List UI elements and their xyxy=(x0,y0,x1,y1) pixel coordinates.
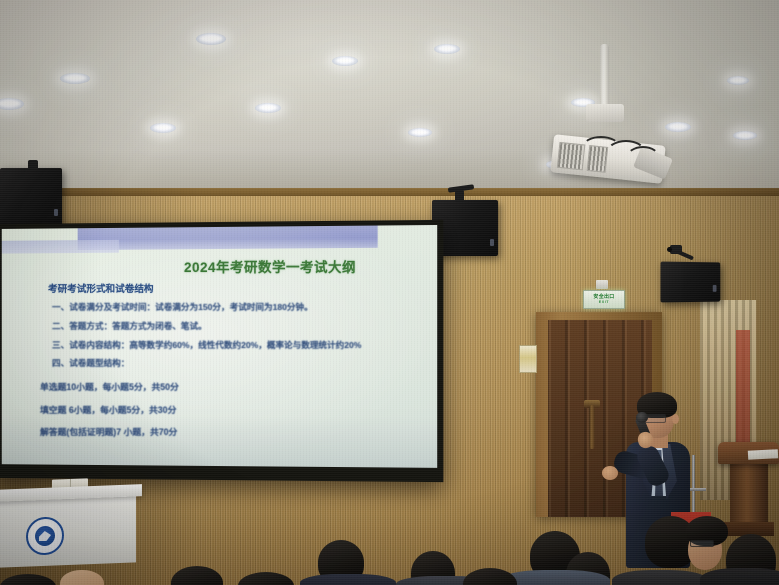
audience-head xyxy=(171,566,223,585)
audience-shoulders xyxy=(700,568,779,585)
audience-glasses xyxy=(690,540,714,547)
red-curtain-strip xyxy=(736,330,750,450)
ceiling-downlight xyxy=(727,76,749,85)
presenter-hand-right xyxy=(602,466,618,480)
exit-sign: 安全出口 EXIT xyxy=(583,290,625,309)
audience-shoulders xyxy=(300,574,396,585)
screen-bottom-shading xyxy=(2,415,437,468)
left-wall-speaker xyxy=(0,168,62,226)
audience xyxy=(0,496,779,585)
ceiling-downlight xyxy=(332,56,358,66)
audience-shoulders xyxy=(612,570,708,585)
ceiling-downlight xyxy=(255,103,281,113)
speaker-badge xyxy=(54,209,58,216)
speaker-bracket xyxy=(455,190,464,202)
ceiling-downlight xyxy=(434,44,460,54)
exit-sign-label-en: EXIT xyxy=(599,300,609,305)
lecture-hall-photo: 2024年考研数学一考试大纲 考研考试形式和试卷结构 一、试卷满分及考试时间：试… xyxy=(0,0,779,585)
ceiling-downlight xyxy=(733,131,757,140)
microphone-head-icon xyxy=(636,412,648,423)
audience-head xyxy=(238,572,294,585)
camera-lens-icon xyxy=(667,247,672,252)
emergency-light-box xyxy=(596,280,608,289)
projector-cable xyxy=(626,146,660,170)
door-handle[interactable] xyxy=(589,405,595,449)
ceiling-downlight xyxy=(408,128,432,137)
slide-title: 2024年考研数学一考试大纲 xyxy=(140,256,400,276)
speaker-bracket xyxy=(28,160,38,170)
slide-subtitle: 考研考试形式和试卷结构 xyxy=(48,281,154,295)
ceiling-downlight xyxy=(60,73,90,84)
ceiling-downlight xyxy=(196,33,226,45)
presentation-software-bar-secondary xyxy=(2,240,119,254)
right-wall-speaker xyxy=(661,262,721,303)
ceiling-downlight xyxy=(150,123,176,133)
slide-item-1: 单选题10小题，每小题5分，共50分 xyxy=(40,380,179,393)
speaker-badge xyxy=(490,239,494,246)
speaker-badge xyxy=(713,285,717,292)
projector-mount-bracket xyxy=(586,104,624,122)
slide-line-2: 二、答题方式：答题方式为闭卷、笔试。 xyxy=(52,320,207,332)
projector-mount-pole xyxy=(600,44,609,110)
slide-line-4: 四、试卷题型结构： xyxy=(52,357,129,369)
audience-head xyxy=(463,568,517,585)
ceiling-downlight xyxy=(665,122,691,132)
presentation-software-bar xyxy=(78,226,378,251)
slide-line-3: 三、试卷内容结构：高等数学约60%，线性代数约20%，概率论与数理统计约20% xyxy=(52,339,361,351)
audience-face xyxy=(60,570,104,585)
presenter-ear xyxy=(672,414,679,424)
slide-item-3: 解答题(包括证明题)7 小题，共70分 xyxy=(40,425,177,438)
wall-notice xyxy=(519,345,537,373)
slide-line-1: 一、试卷满分及考试时间：试卷满分为150分，考试时间为180分钟。 xyxy=(52,301,313,313)
slide-item-2: 填空题 6小题，每小题5分，共30分 xyxy=(40,403,176,416)
podium-papers xyxy=(748,449,778,460)
audience-head xyxy=(0,574,56,585)
